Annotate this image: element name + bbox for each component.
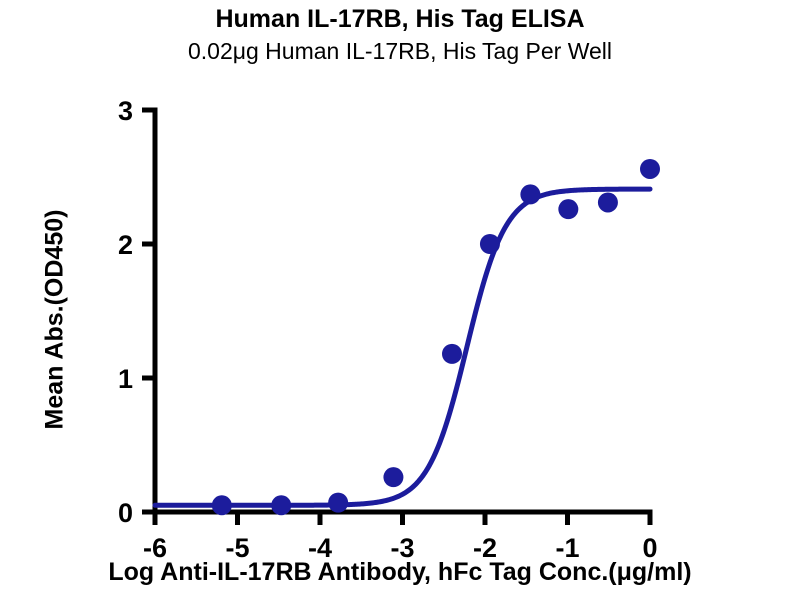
data-point-marker	[328, 493, 348, 513]
y-axis-ticks: 0123	[118, 96, 155, 528]
fit-curve-path	[155, 189, 650, 505]
data-point-marker	[212, 495, 232, 515]
data-point-marker	[442, 344, 462, 364]
x-axis-ticks: -6-5-4-3-2-10	[143, 512, 658, 563]
plot-area: -6-5-4-3-2-10 0123	[0, 0, 800, 600]
y-tick-label: 1	[118, 364, 133, 394]
fit-curve	[155, 189, 650, 505]
data-point-marker	[558, 199, 578, 219]
axis-lines	[155, 110, 650, 512]
data-point-marker	[271, 495, 291, 515]
data-point-marker	[383, 467, 403, 487]
data-point-marker	[520, 184, 540, 204]
data-point-marker	[480, 234, 500, 254]
y-tick-label: 0	[118, 498, 133, 528]
y-tick-label: 3	[118, 96, 133, 126]
data-point-marker	[598, 192, 618, 212]
chart-figure: Human IL-17RB, His Tag ELISA 0.02μg Huma…	[0, 0, 800, 600]
x-axis-title: Log Anti-IL-17RB Antibody, hFc Tag Conc.…	[0, 558, 800, 587]
y-tick-label: 2	[118, 230, 133, 260]
data-points	[212, 159, 660, 515]
y-axis-title: Mean Abs.(OD450)	[41, 160, 70, 480]
data-point-marker	[640, 159, 660, 179]
